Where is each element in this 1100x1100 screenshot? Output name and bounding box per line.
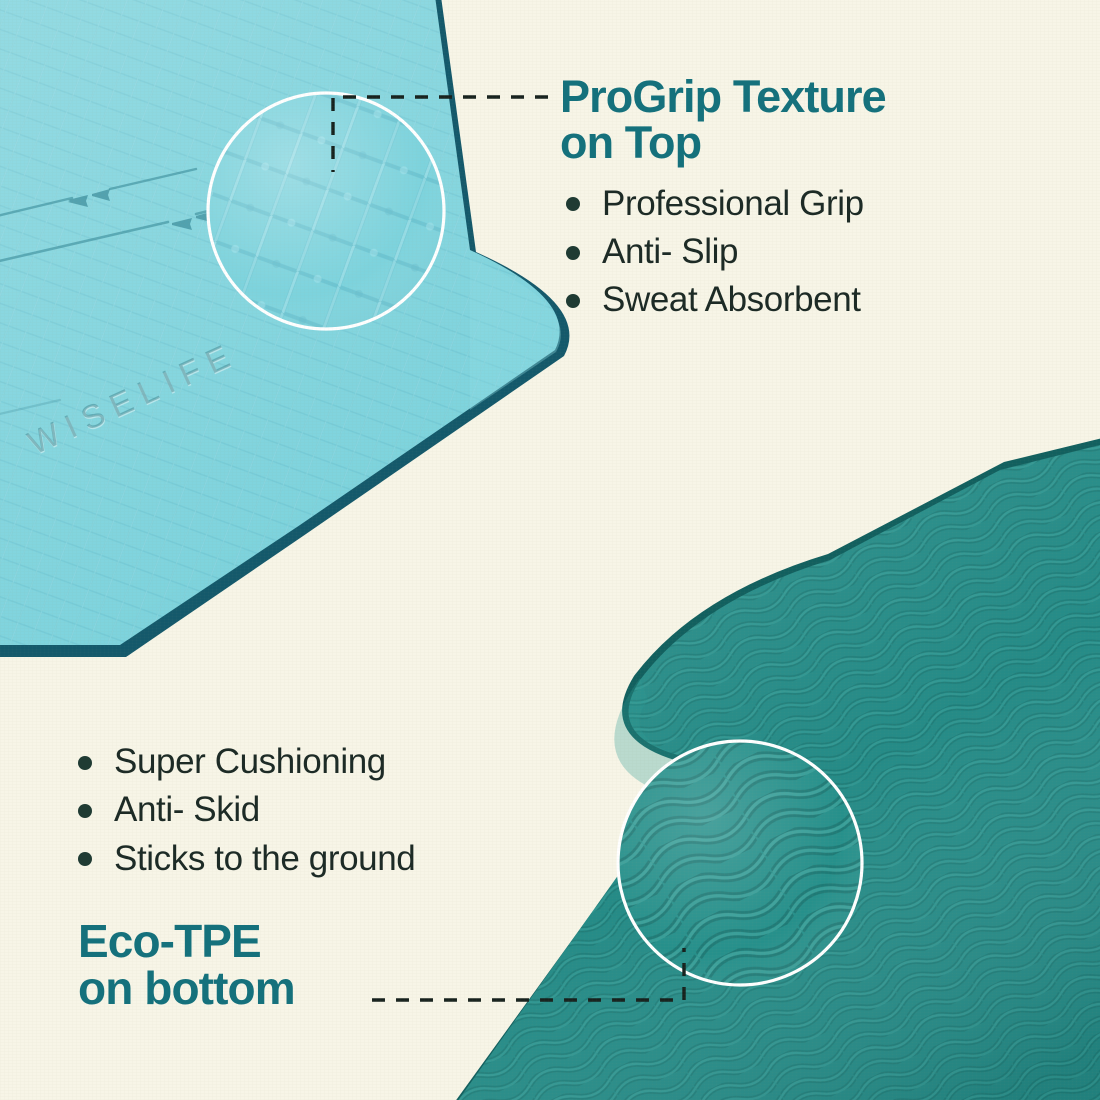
bottom-callout-feature-list: Super Cushioning Anti- Skid Sticks to th… (72, 738, 415, 883)
top-callout-text: ProGrip Texture on Top Professional Grip… (560, 74, 1000, 325)
list-item-label: Professional Grip (602, 184, 864, 223)
top-callout-heading-line1: ProGrip Texture (560, 71, 886, 122)
list-item: Sticks to the ground (72, 835, 415, 883)
top-callout-heading-line2: on Top (560, 120, 1000, 166)
bullet-dot-icon (566, 197, 580, 211)
list-item: Professional Grip (560, 180, 1000, 228)
infographic-canvas: WISELIFE (0, 0, 1100, 1100)
top-callout-feature-list: Professional Grip Anti- Slip Sweat Absor… (560, 180, 1000, 325)
bottom-callout-text: Eco-TPE on bottom (78, 918, 295, 1012)
list-item: Anti- Slip (560, 228, 1000, 276)
bottom-callout-heading-line1: Eco-TPE (78, 915, 261, 967)
bottom-callout-feature-block: Super Cushioning Anti- Skid Sticks to th… (72, 738, 415, 883)
leader-line-bottom (372, 948, 684, 1000)
bullet-dot-icon (566, 294, 580, 308)
top-callout-heading: ProGrip Texture on Top (560, 74, 1000, 166)
bullet-dot-icon (78, 804, 92, 818)
list-item: Sweat Absorbent (560, 276, 1000, 324)
bottom-callout-heading-line2: on bottom (78, 965, 295, 1012)
list-item-label: Sticks to the ground (114, 839, 415, 878)
bullet-dot-icon (78, 852, 92, 866)
list-item-label: Anti- Slip (602, 232, 738, 271)
bullet-dot-icon (566, 246, 580, 260)
list-item-label: Super Cushioning (114, 742, 386, 781)
list-item-label: Anti- Skid (114, 790, 260, 829)
bullet-dot-icon (78, 756, 92, 770)
list-item: Super Cushioning (72, 738, 415, 786)
leader-line-top (333, 97, 548, 172)
list-item-label: Sweat Absorbent (602, 280, 861, 319)
list-item: Anti- Skid (72, 786, 415, 834)
bottom-callout-heading: Eco-TPE on bottom (78, 918, 295, 1012)
